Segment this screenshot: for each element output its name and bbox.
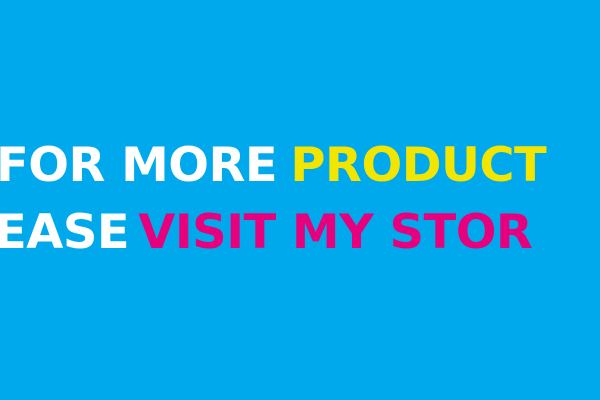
headline-line-1: FOR MOREPRODUCT [0,142,546,189]
headline-segment-please-partial: EASE [0,205,129,260]
headline-segment-for-more: FOR MORE [0,138,277,193]
headline-segment-visit-my-store: VISIT MY STOR [138,205,532,260]
headline-text-block: FOR MOREPRODUCT EASEVISIT MY STOR [0,0,600,400]
promo-banner: FOR MOREPRODUCT EASEVISIT MY STOR [0,0,600,400]
headline-segment-product: PRODUCT [290,138,546,193]
headline-line-2: EASEVISIT MY STOR [0,209,532,256]
